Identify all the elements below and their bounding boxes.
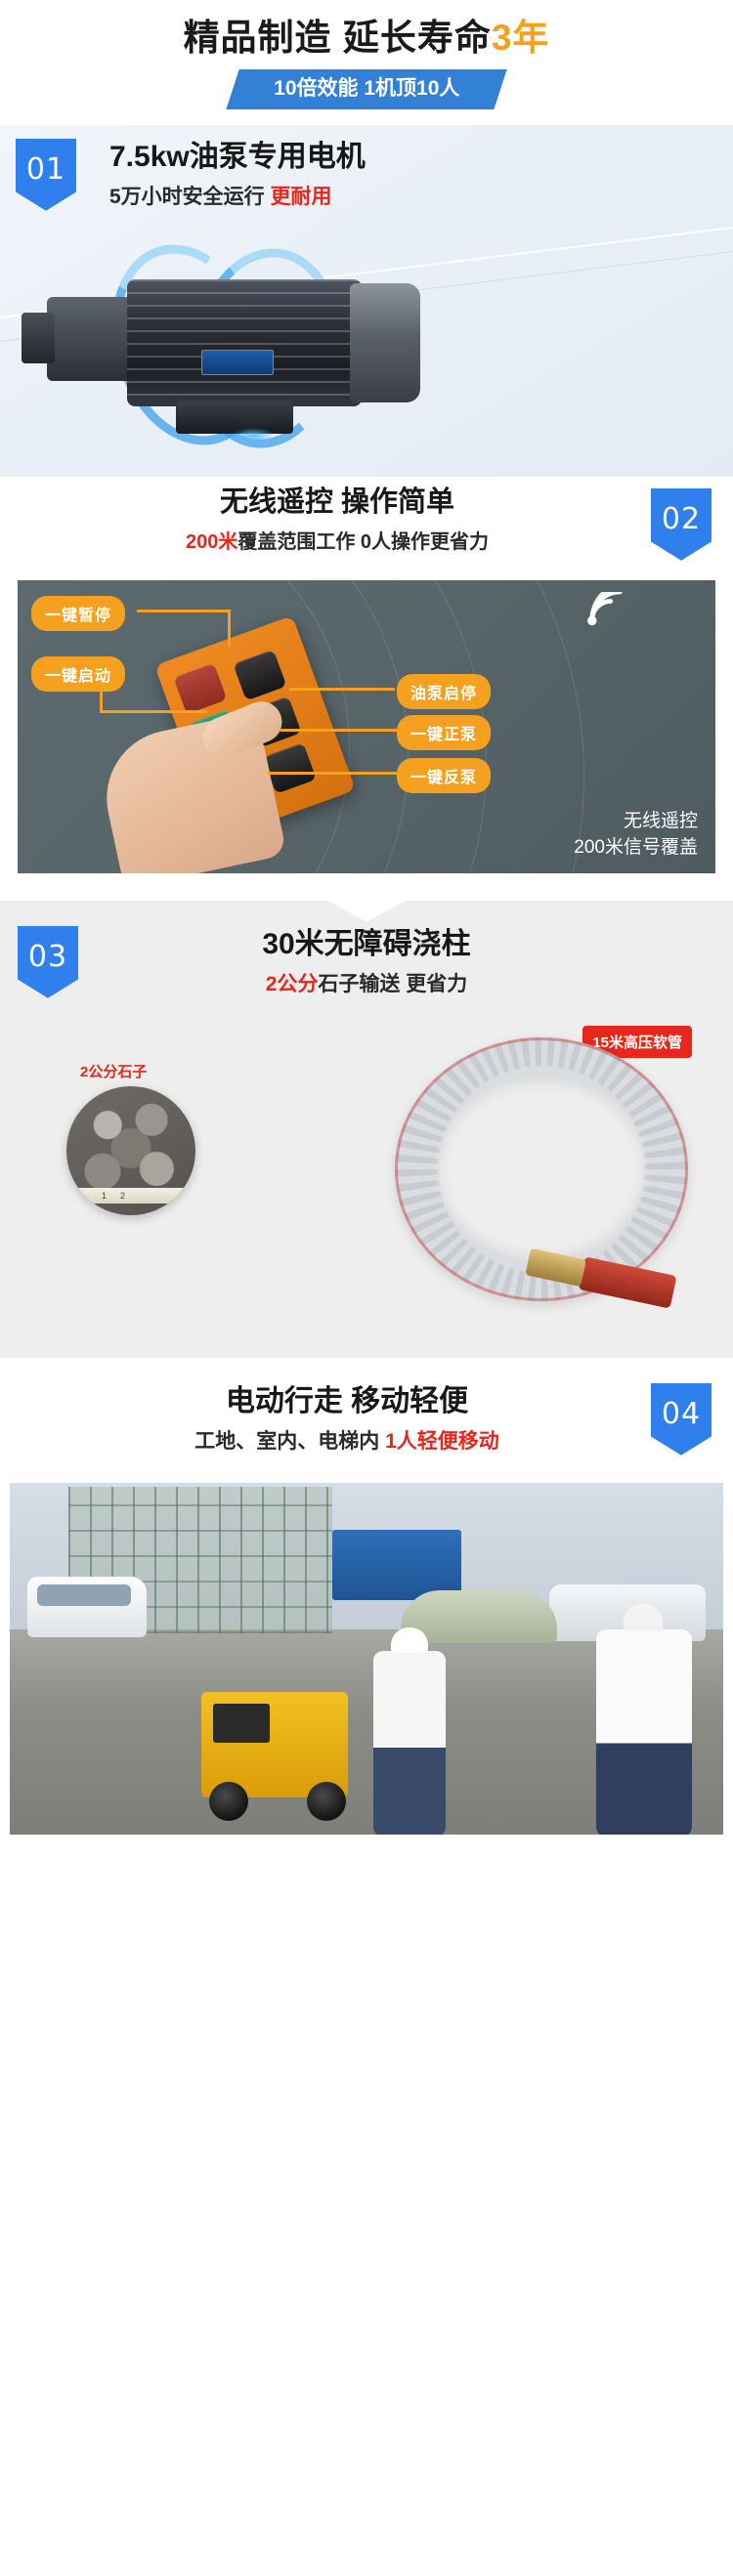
section-badge-03-label: 03 [28,940,67,974]
section-02-remote: 无线遥控 操作简单 200米覆盖范围工作 0人操作更省力 02 [0,477,733,873]
callout-line-right-3 [268,772,397,775]
section-02-subtitle-normal: 覆盖范围工作 0人操作更省力 [237,531,489,553]
construction-site-photo [10,1483,723,1835]
motor-gearbox [47,297,139,381]
wifi-signal-icon [584,592,629,627]
section-02-title: 无线遥控 操作简单 [0,485,674,520]
header-banner: 10倍效能 1机顶10人 [226,69,507,109]
section-01-motor: 01 7.5kw油泵专用电机 5万小时安全运行 更耐用 [0,125,733,477]
page-header: 精品制造 延长寿命3年 10倍效能 1机顶10人 [0,0,733,125]
callout-line-right-2 [280,729,397,732]
worker-operating-machine [373,1651,446,1835]
remote-control-photo: 一键暂停 一键启动 油泵启停 一键正泵 一键反泵 无线遥控 200米信号覆盖 [18,580,715,873]
callout-line-left-1b [228,610,231,647]
section-badge-02-label: 02 [662,502,701,536]
header-banner-label: 10倍效能 1机顶10人 [274,76,459,102]
white-van [27,1577,147,1637]
callout-pump-toggle: 油泵启停 [397,674,491,709]
section-04-title: 电动行走 移动轻便 [0,1383,694,1420]
section-04-text: 电动行走 移动轻便 工地、室内、电梯内 1人轻便移动 [0,1383,733,1456]
motor-fan-cover [350,283,420,402]
gravel-sample-photo: 1 2 [66,1086,195,1215]
page-title-accent: 3年 [492,18,550,58]
motor-glow-highlight [231,428,276,443]
callout-start: 一键启动 [31,656,125,692]
section-03-header: 03 30米无障碍浇柱 2公分石子输送 更省力 [0,901,733,1018]
section-01-title: 7.5kw油泵专用电机 [109,139,366,176]
ruler-mark-2: 2 [120,1191,125,1201]
remote-caption-line1: 无线遥控 [574,808,698,835]
section-02-text: 无线遥控 操作简单 200米覆盖范围工作 0人操作更省力 [0,485,733,554]
hose-photo: 15米高压软管 2公分石子 1 2 [16,1018,717,1340]
worker-standing-right [596,1629,692,1835]
section-03-title: 30米无障碍浇柱 [0,926,733,963]
remote-caption-line2: 200米信号覆盖 [574,834,698,862]
blue-signage-panel [332,1530,461,1600]
remote-caption: 无线遥控 200米信号覆盖 [574,808,698,862]
callout-forward-pump: 一键正泵 [397,715,491,750]
section-04-subtitle: 工地、室内、电梯内 1人轻便移动 [0,1425,694,1455]
callout-line-right-1 [289,688,395,691]
section-01-text: 7.5kw油泵专用电机 5万小时安全运行 更耐用 [109,139,366,211]
section-01-subtitle-normal: 5万小时安全运行 [109,186,271,208]
callout-line-left-1 [137,610,231,612]
section-03-text: 30米无障碍浇柱 2公分石子输送 更省力 [0,926,733,998]
gravel-ruler: 1 2 [66,1188,195,1204]
section-03-subtitle-red: 2公分 [266,973,319,995]
section-04-mobility: 电动行走 移动轻便 工地、室内、电梯内 1人轻便移动 04 [0,1358,733,1835]
section-04-subtitle-red: 1人轻便移动 [385,1430,499,1453]
section-03-subtitle: 2公分石子输送 更省力 [0,968,733,997]
section-03-subtitle-normal: 石子输送 更省力 [318,973,467,995]
callout-pause: 一键暂停 [31,596,125,631]
section-badge-04-label: 04 [662,1397,701,1431]
section-01-subtitle: 5万小时安全运行 更耐用 [109,181,366,210]
header-banner-wrap: 10倍效能 1机顶10人 [0,69,733,109]
section-01-subtitle-red: 更耐用 [271,186,332,208]
page-title-main: 精品制造 延长寿命 [184,18,492,58]
section-03-hose: 03 30米无障碍浇柱 2公分石子输送 更省力 15米高压软管 2公分石子 1 … [0,901,733,1358]
ruler-mark-1: 1 [102,1191,107,1201]
remote-key-pump-start-stop [233,650,286,701]
remote-key-stop [173,662,227,714]
product-detail-page: 精品制造 延长寿命3年 10倍效能 1机顶10人 01 7.5kw油泵专用电机 … [0,0,733,1835]
section-02-subtitle-red: 200米 [186,531,237,553]
motor-cooling-fins [127,279,362,406]
section-02-header: 无线遥控 操作简单 200米覆盖范围工作 0人操作更省力 02 [0,485,733,574]
callout-reverse-pump: 一键反泵 [397,758,491,793]
section-04-subtitle-normal: 工地、室内、电梯内 [194,1430,385,1453]
gravel-size-label: 2公分石子 [80,1061,147,1081]
motor-nameplate [201,350,274,375]
section-02-subtitle: 200米覆盖范围工作 0人操作更省力 [0,526,674,554]
motor-housing [127,279,362,406]
section-badge-01: 01 [16,139,76,211]
machine-wheel-right [307,1782,346,1821]
motor-photo [0,232,733,477]
machine-wheel-left [209,1782,248,1821]
callout-line-left-2c [100,710,207,713]
section-badge-01-label: 01 [26,152,65,187]
section-04-header: 电动行走 移动轻便 工地、室内、电梯内 1人轻便移动 04 [0,1383,733,1473]
page-title: 精品制造 延长寿命3年 [0,18,733,60]
